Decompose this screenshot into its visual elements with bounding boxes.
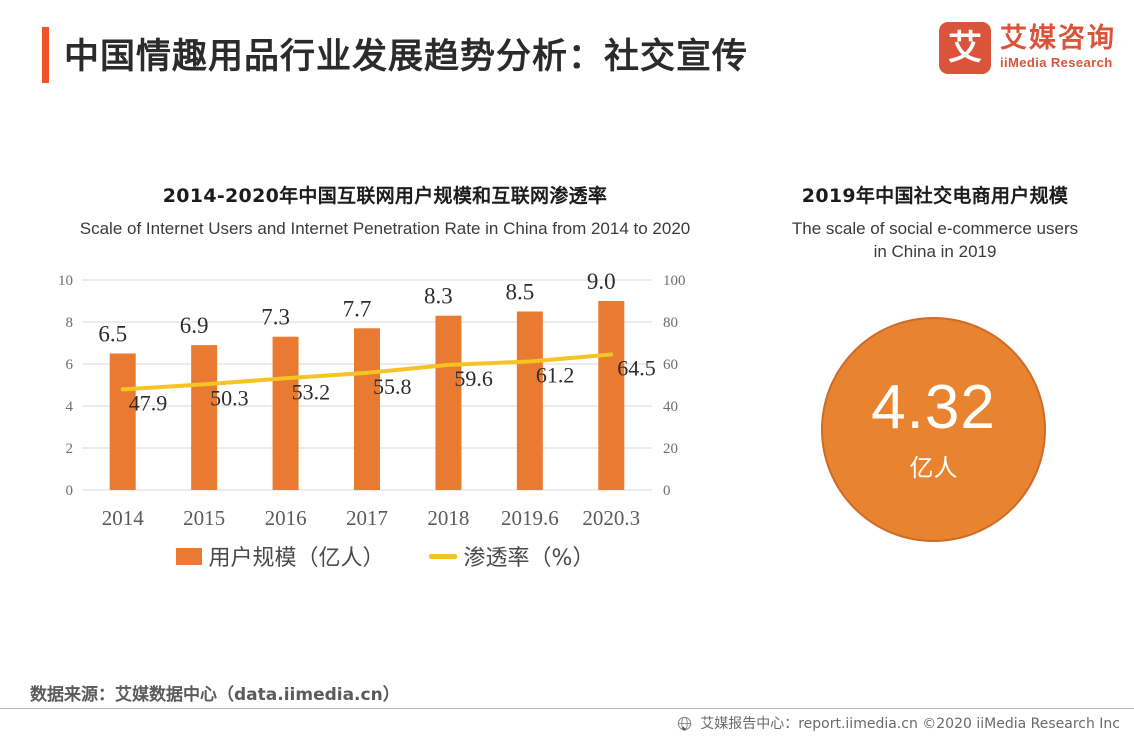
svg-text:60: 60 [663,357,678,373]
line-label-2019.6: 61.2 [536,362,575,387]
right-stat-panel: 2019年中国社交电商用户规模 The scale of social e-co… [745,185,1125,605]
bar-2019.6 [517,312,543,491]
x-tick-2016: 2016 [265,506,307,530]
line-label-2018: 59.6 [454,366,493,391]
x-tick-2015: 2015 [183,506,225,530]
svg-text:2: 2 [66,441,74,457]
bar-2015 [191,345,217,490]
svg-text:40: 40 [663,399,678,415]
legend-item-bar[interactable]: 用户规模（亿人） [176,540,385,572]
svg-text:0: 0 [663,483,671,499]
circle-stat-value: 4.32 [871,377,996,439]
left-chart-title: 2014-2020年中国互联网用户规模和互联网渗透率 [30,185,740,209]
logo-text: 艾媒咨询 iiMedia Research [1000,25,1116,71]
legend-line-label: 渗透率（%） [464,540,595,572]
line-label-2017: 55.8 [373,374,412,399]
x-tick-2018: 2018 [427,506,469,530]
logo-english-name: iiMedia Research [1000,55,1116,71]
left-chart-subtitle: Scale of Internet Users and Internet Pen… [30,218,740,241]
title-accent-bar [42,27,49,83]
footer-bar: 艾媒报告中心：report.iimedia.cn ©2020 iiMedia R… [0,709,1134,737]
x-tick-2020.3: 2020.3 [582,506,640,530]
data-source-note: 数据来源：艾媒数据中心（data.iimedia.cn） [30,680,400,705]
right-chart-subtitle-line2: in China in 2019 [745,241,1125,264]
bar-label-2014: 6.5 [98,322,127,347]
logo-mark-icon: 艾 [939,22,991,74]
bar-label-2020.3: 9.0 [587,269,616,294]
bar-label-2015: 6.9 [180,313,209,338]
left-chart-panel: 2014-2020年中国互联网用户规模和互联网渗透率 Scale of Inte… [30,185,740,605]
x-tick-2017: 2017 [346,506,388,530]
page-title: 中国情趣用品行业发展趋势分析：社交宣传 [64,28,748,79]
right-chart-title: 2019年中国社交电商用户规模 [745,185,1125,209]
svg-text:6: 6 [66,357,74,373]
x-tick-2019.6: 2019.6 [501,506,559,530]
social-ecommerce-users-circle: 4.32 亿人 [821,317,1046,542]
globe-icon [677,716,692,731]
line-label-2014: 47.9 [129,390,168,415]
bar-label-2019.6: 8.5 [505,280,534,305]
legend-bar-swatch-icon [176,548,202,565]
brand-logo: 艾 艾媒咨询 iiMedia Research [939,22,1116,74]
line-label-2020.3: 64.5 [617,356,656,381]
bar-2016 [273,337,299,490]
bar-label-2016: 7.3 [261,305,290,330]
bar-label-2017: 7.7 [343,296,372,321]
right-chart-subtitle-line1: The scale of social e-commerce users [745,218,1125,241]
svg-text:80: 80 [663,315,678,331]
svg-text:4: 4 [66,399,74,415]
circle-stat-unit: 亿人 [910,448,958,483]
svg-text:10: 10 [58,273,73,289]
svg-text:8: 8 [66,315,74,331]
legend-bar-label: 用户规模（亿人） [209,540,385,572]
bar-2020.3 [598,301,624,490]
bar-2018 [435,316,461,490]
footer-text: 艾媒报告中心：report.iimedia.cn ©2020 iiMedia R… [700,713,1120,733]
line-label-2016: 53.2 [292,379,331,404]
svg-text:0: 0 [66,483,74,499]
bar-label-2018: 8.3 [424,284,453,309]
combo-chart-plot: 024681002040608010047.950.353.255.859.66… [30,265,740,515]
legend-line-swatch-icon [429,554,457,559]
combo-chart-svg: 024681002040608010047.950.353.255.859.66… [30,265,740,545]
svg-text:100: 100 [663,273,686,289]
line-label-2015: 50.3 [210,385,249,410]
right-chart-subtitle: The scale of social e-commerce users in … [745,218,1125,264]
chart-legend: 用户规模（亿人） 渗透率（%） [30,540,740,572]
slide-page: 中国情趣用品行业发展趋势分析：社交宣传 艾 艾媒咨询 iiMedia Resea… [0,0,1134,737]
bar-2017 [354,328,380,490]
header: 中国情趣用品行业发展趋势分析：社交宣传 艾 艾媒咨询 iiMedia Resea… [0,0,1134,105]
x-tick-2014: 2014 [102,506,145,530]
logo-chinese-name: 艾媒咨询 [1000,25,1116,53]
legend-item-line[interactable]: 渗透率（%） [429,540,595,572]
svg-text:20: 20 [663,441,678,457]
bar-2014 [110,354,136,491]
